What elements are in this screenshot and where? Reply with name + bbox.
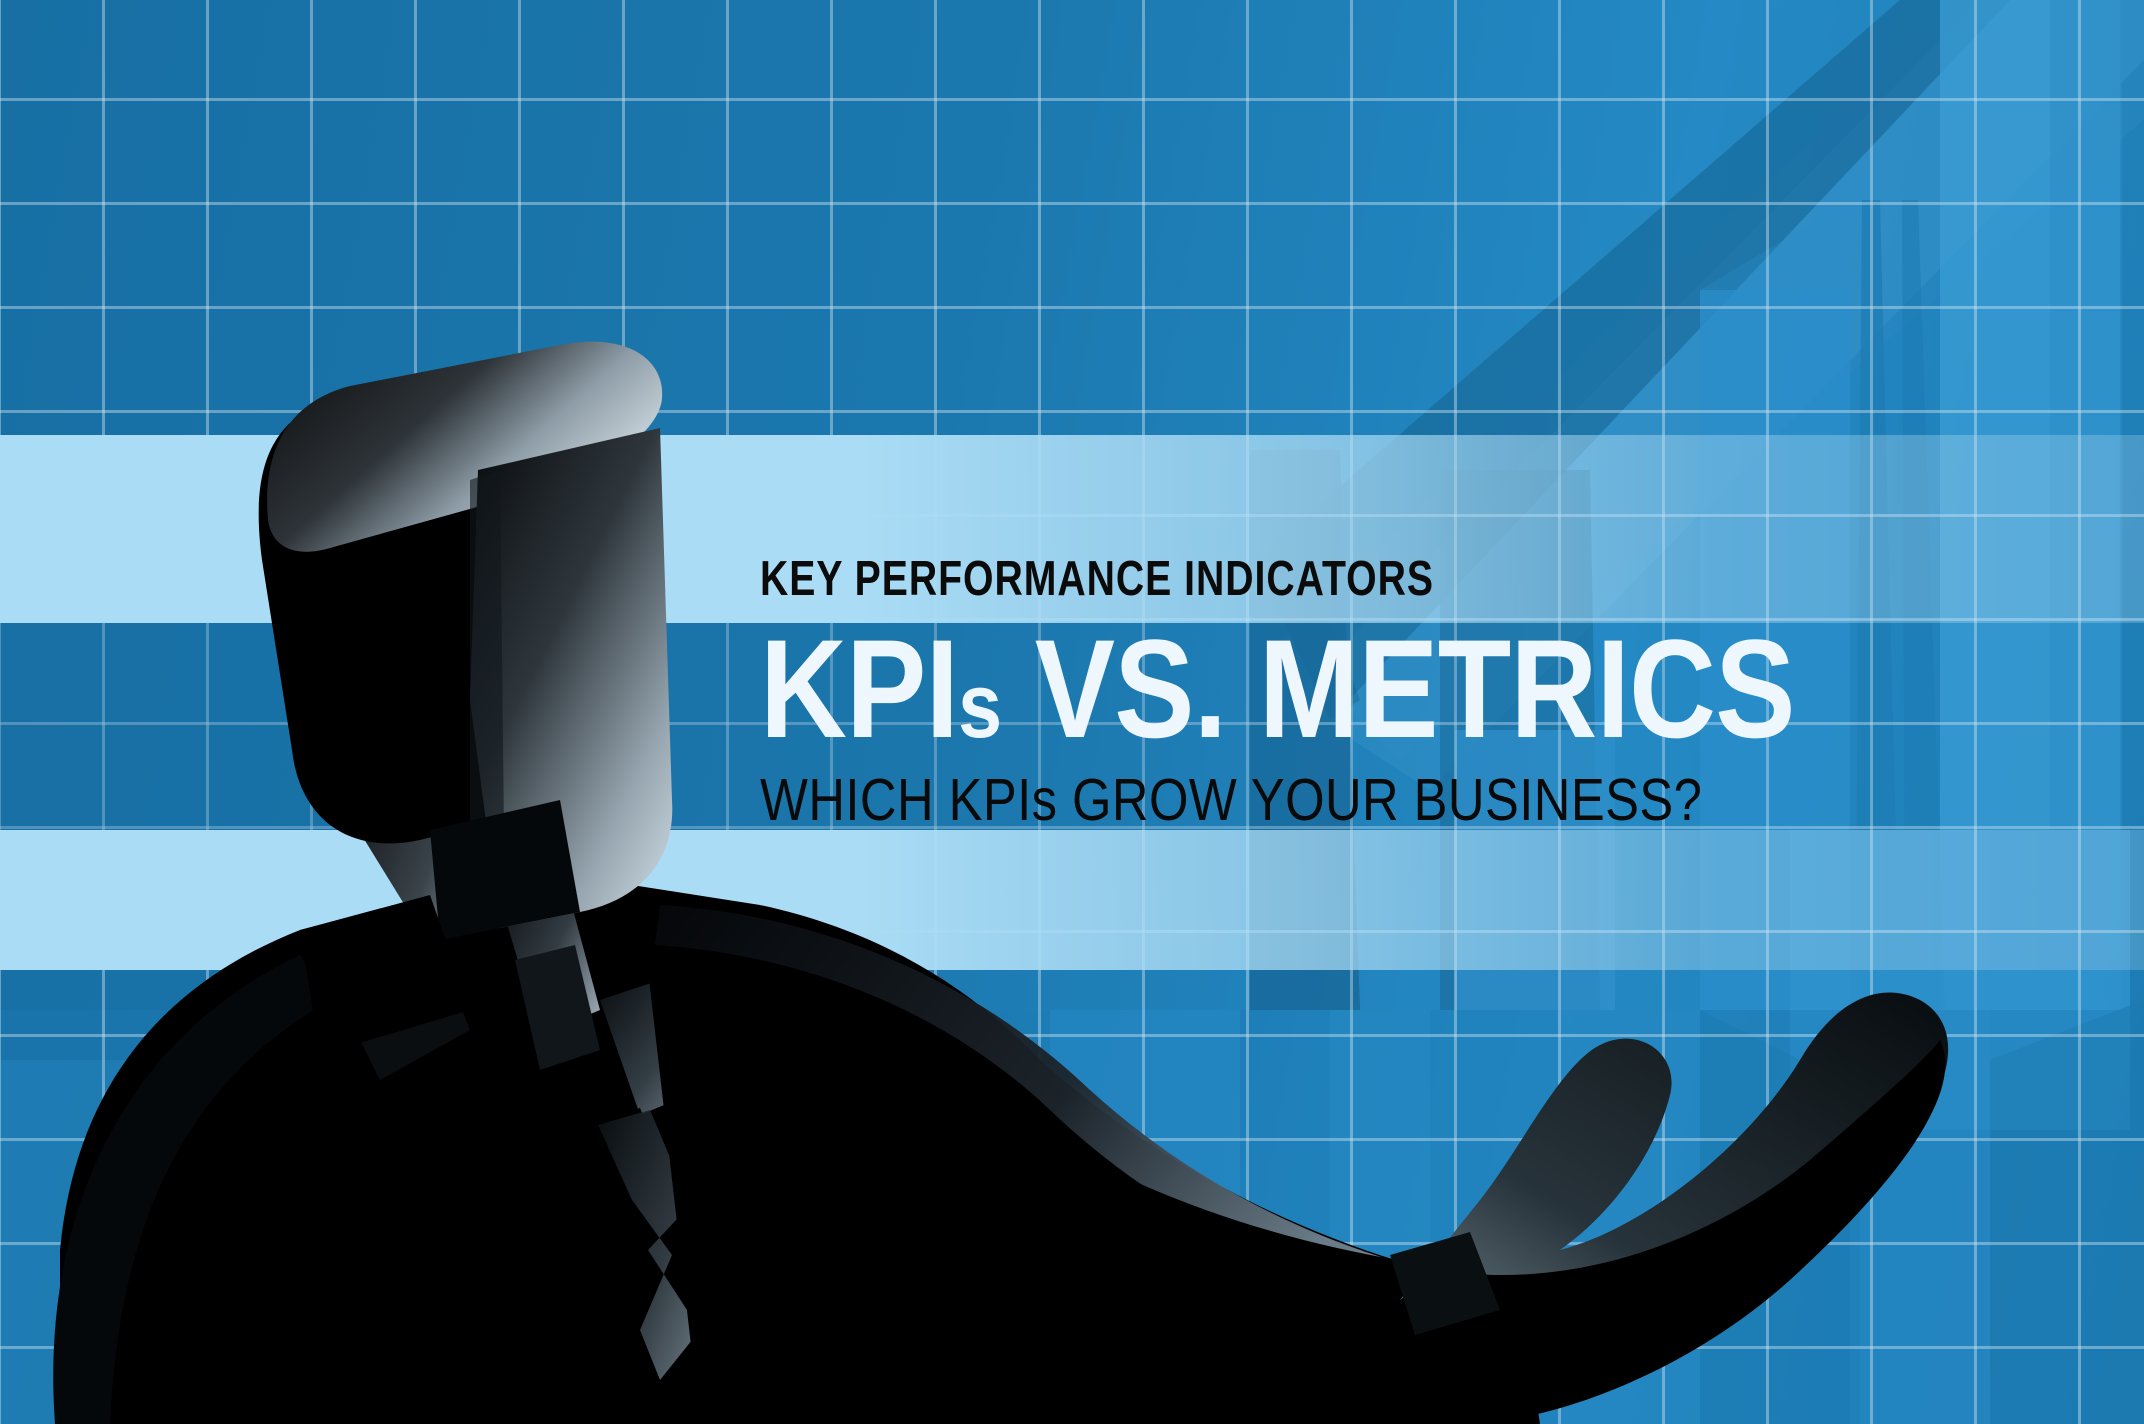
headline-block: KEY PERFORMANCE INDICATORS KPIs VS. METR… [760, 555, 2060, 830]
eyebrow-text: KEY PERFORMANCE INDICATORS [760, 555, 1800, 604]
headline-part-rest: VS. METRICS [1002, 610, 1794, 767]
headline-part-kpi: KPI [760, 610, 958, 767]
banner-canvas: KEY PERFORMANCE INDICATORS KPIs VS. METR… [0, 0, 2144, 1424]
subtitle-text: WHICH KPIs GROW YOUR BUSINESS? [760, 771, 1878, 830]
page-title: KPIs VS. METRICS [760, 622, 1878, 755]
headline-part-s: s [958, 655, 1002, 757]
